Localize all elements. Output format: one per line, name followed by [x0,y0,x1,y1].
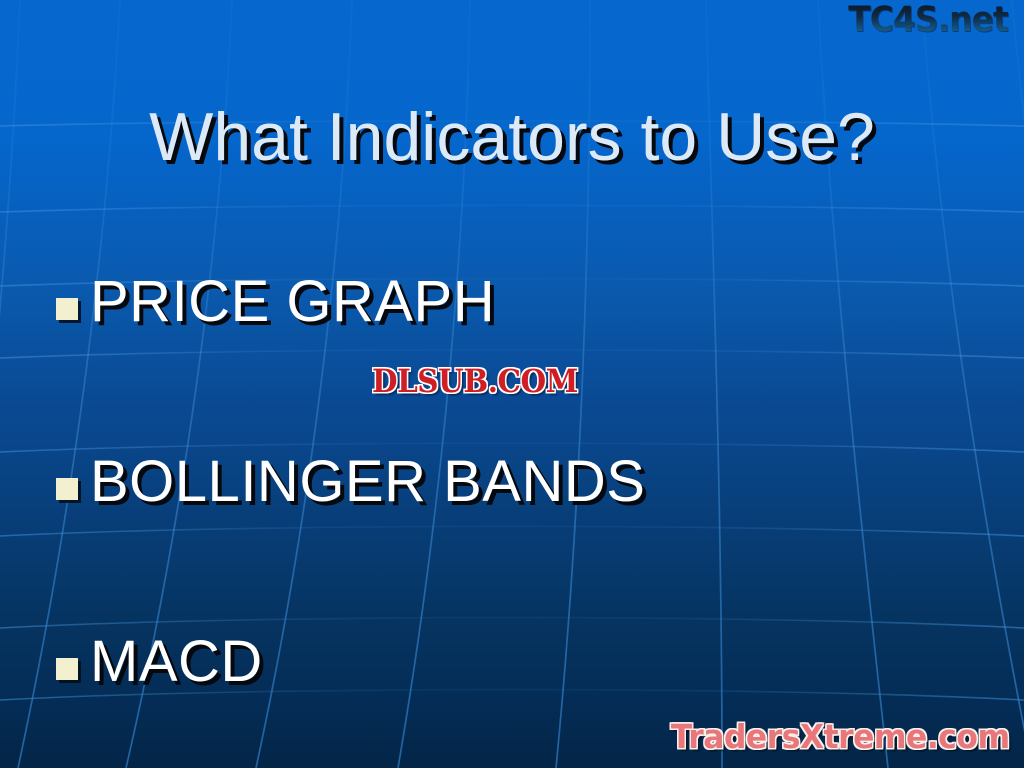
bullet-label-bollinger-bands: BOLLINGER BANDS [90,453,645,511]
presentation-slide: TC4S.net What Indicators to Use? PRICE G… [0,0,1024,768]
square-bullet-icon [56,298,78,320]
watermark-tc4s-net: TC4S.net [848,2,1008,39]
bullet-label-price-graph: PRICE GRAPH [90,273,495,331]
watermark-dlsub-com: DLSUB.COM [372,362,578,400]
bullet-label-macd: MACD [90,633,263,691]
slide-title: What Indicators to Use? [0,98,1024,176]
square-bullet-icon [56,658,78,680]
square-bullet-icon [56,478,78,500]
list-item: BOLLINGER BANDS [56,392,976,572]
bullet-list: PRICE GRAPH BOLLINGER BANDS MACD [56,212,976,752]
watermark-tradersxtreme-com: TradersXtreme.com [671,717,1010,756]
